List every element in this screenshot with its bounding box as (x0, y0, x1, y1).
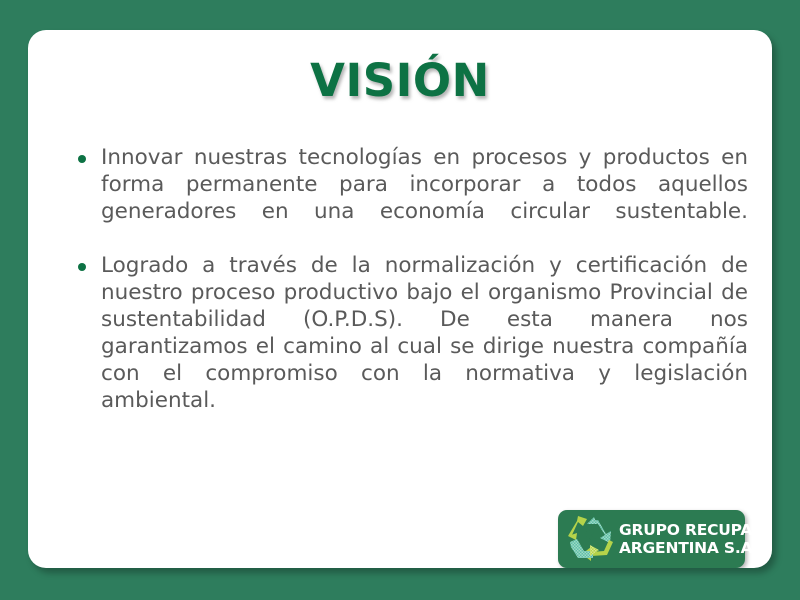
logo-text: GRUPO RECUPAL ARGENTINA S.A (616, 521, 762, 557)
list-item: Innovar nuestras tecnologías en procesos… (78, 144, 748, 252)
presentation-slide: VISIÓN Innovar nuestras tecnologías en p… (0, 0, 800, 600)
bullet-text: Innovar nuestras tecnologías en procesos… (101, 144, 748, 252)
logo-line-2: ARGENTINA S.A (619, 539, 762, 557)
list-item: Logrado a través de la normalización y c… (78, 252, 748, 441)
logo-line-1: GRUPO RECUPAL (619, 521, 762, 539)
bullet-dot-icon (78, 263, 86, 271)
bullet-text: Logrado a través de la normalización y c… (101, 252, 748, 441)
slide-card: VISIÓN Innovar nuestras tecnologías en p… (28, 30, 772, 568)
page-title: VISIÓN (28, 58, 772, 103)
recycle-icon (564, 514, 616, 564)
bullet-dot-icon (78, 155, 86, 163)
bullet-list: Innovar nuestras tecnologías en procesos… (78, 144, 748, 441)
company-logo: GRUPO RECUPAL ARGENTINA S.A (558, 510, 745, 568)
